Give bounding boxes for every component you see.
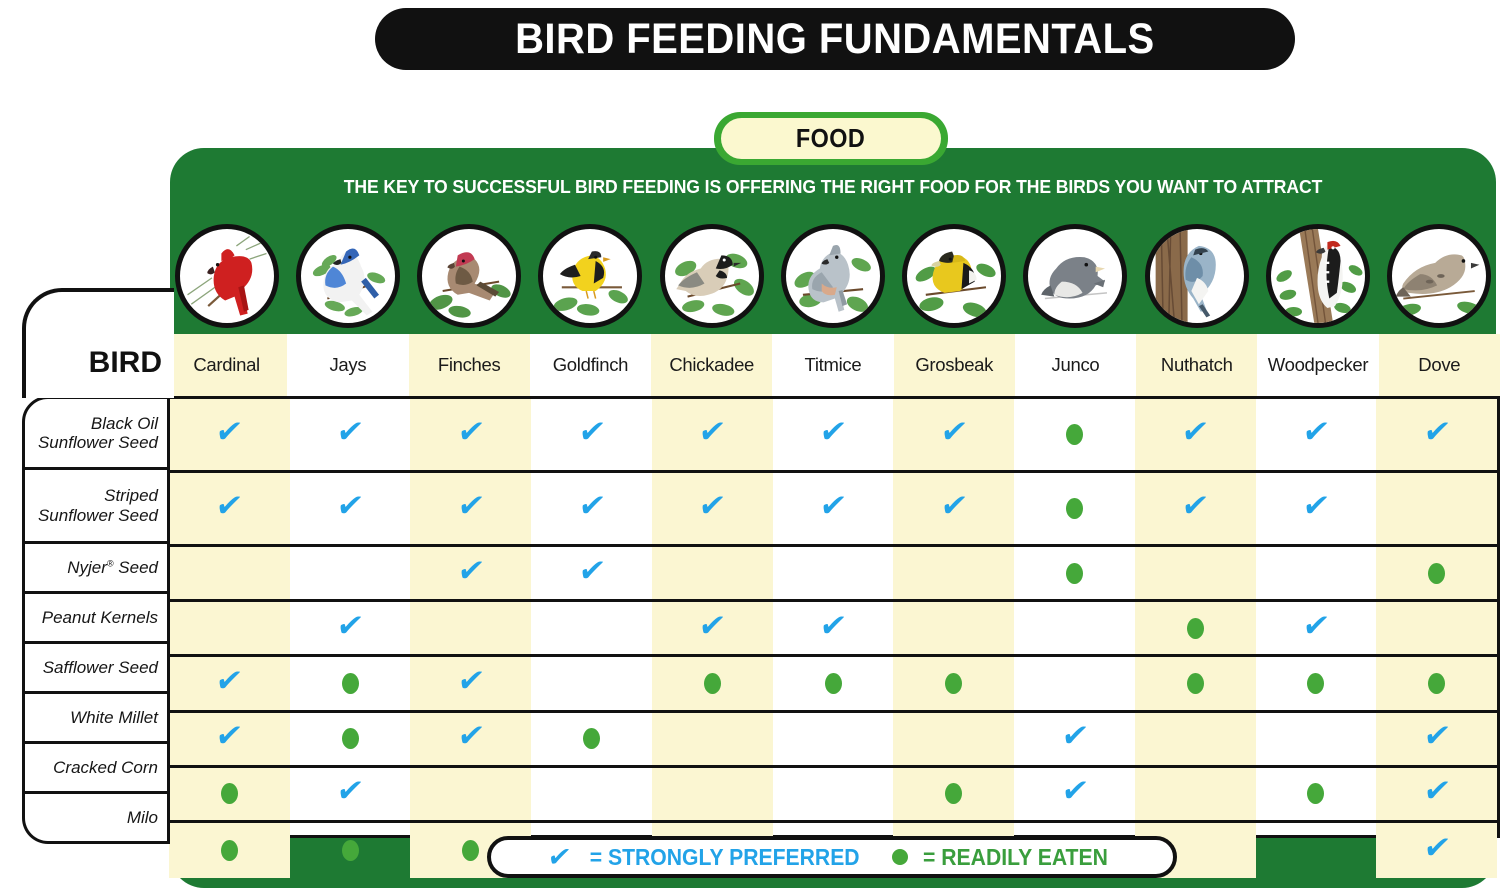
table-cell: ✔ bbox=[410, 713, 531, 765]
food-row-label: Safflower Seed bbox=[22, 644, 170, 694]
table-cell bbox=[1376, 547, 1497, 599]
bird-name-cell: Grosbeak bbox=[894, 334, 1015, 396]
dot-icon bbox=[1307, 783, 1324, 804]
table-cell bbox=[169, 768, 290, 820]
dot-icon bbox=[1307, 673, 1324, 694]
table-cell bbox=[290, 547, 411, 599]
table-row: ✔✔ bbox=[169, 657, 1497, 712]
bird-column-header: Titmice bbox=[772, 222, 893, 396]
table-cell bbox=[893, 768, 1014, 820]
check-icon: ✔ bbox=[1180, 417, 1211, 448]
table-cell bbox=[1256, 547, 1377, 599]
table-row: ✔✔✔✔✔✔✔✔✔ bbox=[169, 473, 1497, 547]
bird-column-header: Dove bbox=[1379, 222, 1500, 396]
table-cell bbox=[652, 768, 773, 820]
table-cell: ✔ bbox=[290, 768, 411, 820]
bird-column-header: Finches bbox=[409, 222, 530, 396]
table-header-row: CardinalJaysFinchesGoldfinchChickadeeTit… bbox=[166, 222, 1500, 396]
table-cell bbox=[169, 823, 290, 878]
table-cell: ✔ bbox=[1376, 823, 1497, 878]
row-label-column: Black OilSunflower SeedStripedSunflower … bbox=[22, 396, 170, 844]
table-cell bbox=[1014, 547, 1135, 599]
bird-name-label: Nuthatch bbox=[1161, 354, 1233, 376]
dot-icon bbox=[1066, 424, 1083, 445]
table-cell: ✔ bbox=[652, 399, 773, 470]
food-row-label: Nyjer® Seed bbox=[22, 544, 170, 594]
table-cell bbox=[773, 768, 894, 820]
table-cell: ✔ bbox=[531, 473, 652, 544]
dot-icon bbox=[1066, 563, 1083, 584]
bird-column-header: Jays bbox=[287, 222, 408, 396]
table-cell bbox=[1256, 823, 1377, 878]
table-cell bbox=[1014, 473, 1135, 544]
check-icon: ✔ bbox=[576, 491, 607, 522]
table-cell bbox=[1376, 657, 1497, 709]
table-body: ✔✔✔✔✔✔✔✔✔✔✔✔✔✔✔✔✔✔✔✔✔✔✔✔✔✔✔✔✔✔✔✔✔✔✔ bbox=[166, 396, 1500, 838]
table-cell bbox=[169, 602, 290, 654]
table-row: ✔✔ bbox=[169, 547, 1497, 602]
table-cell bbox=[1376, 473, 1497, 544]
dot-icon bbox=[583, 728, 600, 749]
table-cell bbox=[290, 823, 411, 878]
food-tab[interactable]: FOOD bbox=[714, 112, 948, 165]
dot-icon bbox=[1428, 563, 1445, 584]
table-row: ✔✔✔✔✔✔✔✔✔✔ bbox=[169, 399, 1497, 473]
table-cell bbox=[1135, 713, 1256, 765]
table-cell: ✔ bbox=[652, 602, 773, 654]
check-icon: ✔ bbox=[1059, 776, 1090, 807]
bird-name-cell: Nuthatch bbox=[1136, 334, 1257, 396]
cardinal-icon bbox=[175, 224, 279, 328]
check-icon: ✔ bbox=[214, 491, 245, 522]
check-icon: ✔ bbox=[455, 417, 486, 448]
check-icon: ✔ bbox=[1059, 721, 1090, 752]
table-cell: ✔ bbox=[290, 473, 411, 544]
table-cell: ✔ bbox=[1256, 602, 1377, 654]
table-cell: ✔ bbox=[290, 602, 411, 654]
table-cell bbox=[893, 657, 1014, 709]
evening-grosbeak-icon bbox=[902, 224, 1006, 328]
check-icon: ✔ bbox=[1421, 833, 1452, 864]
check-icon: ✔ bbox=[1301, 491, 1332, 522]
table-cell bbox=[1376, 602, 1497, 654]
check-icon: ✔ bbox=[1180, 491, 1211, 522]
bird-axis-tab: BIRD bbox=[22, 288, 174, 398]
bird-name-cell: Titmice bbox=[772, 334, 893, 396]
check-icon: ✔ bbox=[938, 417, 969, 448]
table-cell: ✔ bbox=[169, 657, 290, 709]
food-row-label-text: Black OilSunflower Seed bbox=[38, 414, 158, 452]
table-cell bbox=[773, 657, 894, 709]
table-cell: ✔ bbox=[1014, 768, 1135, 820]
check-icon: ✔ bbox=[697, 611, 728, 642]
junco-icon bbox=[1023, 224, 1127, 328]
table-cell: ✔ bbox=[531, 547, 652, 599]
check-icon: ✔ bbox=[1421, 417, 1452, 448]
table-cell bbox=[773, 713, 894, 765]
table-cell bbox=[1135, 657, 1256, 709]
bird-column-header: Chickadee bbox=[651, 222, 772, 396]
check-icon: ✔ bbox=[335, 417, 366, 448]
check-icon: ✔ bbox=[818, 611, 849, 642]
bird-column-header: Nuthatch bbox=[1136, 222, 1257, 396]
bird-column-header: Grosbeak bbox=[894, 222, 1015, 396]
table-cell: ✔ bbox=[1376, 399, 1497, 470]
page-title-banner: BIRD FEEDING FUNDAMENTALS bbox=[375, 8, 1295, 70]
bird-name-label: Chickadee bbox=[669, 354, 754, 376]
table-cell: ✔ bbox=[410, 547, 531, 599]
dot-icon bbox=[221, 840, 238, 861]
table-cell bbox=[1014, 399, 1135, 470]
table-cell bbox=[410, 768, 531, 820]
dot-icon bbox=[1066, 498, 1083, 519]
bird-name-label: Titmice bbox=[805, 354, 862, 376]
food-tab-label: FOOD bbox=[796, 123, 865, 154]
bird-name-label: Grosbeak bbox=[915, 354, 993, 376]
page-title: BIRD FEEDING FUNDAMENTALS bbox=[515, 15, 1155, 64]
food-row-label-text: Milo bbox=[127, 808, 158, 827]
bird-name-cell: Woodpecker bbox=[1257, 334, 1378, 396]
table-cell: ✔ bbox=[773, 602, 894, 654]
table-cell: ✔ bbox=[169, 399, 290, 470]
legend: ✔ = STRONGLY PREFERRED = READILY EATEN bbox=[487, 836, 1177, 878]
dot-icon bbox=[1187, 673, 1204, 694]
dot-icon bbox=[945, 783, 962, 804]
table-cell: ✔ bbox=[1135, 473, 1256, 544]
table-cell: ✔ bbox=[893, 473, 1014, 544]
table-cell bbox=[893, 547, 1014, 599]
bird-name-cell: Goldfinch bbox=[530, 334, 651, 396]
table-cell bbox=[1256, 657, 1377, 709]
goldfinch-icon bbox=[538, 224, 642, 328]
food-row-label-text: Safflower Seed bbox=[43, 658, 158, 677]
bird-name-cell: Cardinal bbox=[166, 334, 287, 396]
table-cell: ✔ bbox=[169, 473, 290, 544]
check-icon: ✔ bbox=[455, 491, 486, 522]
bird-name-cell: Junco bbox=[1015, 334, 1136, 396]
bird-name-label: Dove bbox=[1418, 354, 1460, 376]
check-icon: ✔ bbox=[697, 417, 728, 448]
bird-name-label: Goldfinch bbox=[553, 354, 628, 376]
food-row-label-text: Cracked Corn bbox=[53, 758, 158, 777]
table-cell bbox=[652, 657, 773, 709]
table-cell bbox=[531, 713, 652, 765]
bird-name-cell: Dove bbox=[1379, 334, 1500, 396]
check-icon: ✔ bbox=[697, 491, 728, 522]
food-tab-inner: FOOD bbox=[721, 118, 941, 159]
table-cell bbox=[290, 657, 411, 709]
mourning-dove-icon bbox=[1387, 224, 1491, 328]
subtitle-text: THE KEY TO SUCCESSFUL BIRD FEEDING IS OF… bbox=[209, 176, 1457, 198]
bird-name-label: Woodpecker bbox=[1268, 354, 1369, 376]
table-cell bbox=[290, 713, 411, 765]
table-cell: ✔ bbox=[773, 473, 894, 544]
table-cell: ✔ bbox=[1256, 399, 1377, 470]
food-row-label: Black OilSunflower Seed bbox=[22, 396, 170, 470]
food-row-label-text: White Millet bbox=[70, 708, 158, 727]
dot-icon bbox=[342, 673, 359, 694]
table-cell: ✔ bbox=[1376, 713, 1497, 765]
blue-jay-icon bbox=[296, 224, 400, 328]
table-cell: ✔ bbox=[1256, 473, 1377, 544]
check-icon: ✔ bbox=[1301, 611, 1332, 642]
dot-icon bbox=[945, 673, 962, 694]
chickadee-icon bbox=[660, 224, 764, 328]
table-cell bbox=[1256, 713, 1377, 765]
food-row-label: Milo bbox=[22, 794, 170, 844]
bird-column-header: Cardinal bbox=[166, 222, 287, 396]
bird-name-label: Jays bbox=[329, 354, 366, 376]
table-cell bbox=[893, 602, 1014, 654]
bird-name-cell: Chickadee bbox=[651, 334, 772, 396]
check-icon: ✔ bbox=[214, 721, 245, 752]
check-icon: ✔ bbox=[1301, 417, 1332, 448]
table-cell bbox=[531, 602, 652, 654]
bird-name-cell: Finches bbox=[409, 334, 530, 396]
legend-check-label: = STRONGLY PREFERRED bbox=[589, 844, 859, 871]
dot-icon bbox=[1428, 673, 1445, 694]
check-icon: ✔ bbox=[335, 776, 366, 807]
table-cell bbox=[652, 547, 773, 599]
table-cell: ✔ bbox=[410, 399, 531, 470]
table-row: ✔✔✔✔ bbox=[169, 602, 1497, 657]
dot-icon bbox=[462, 840, 479, 861]
legend-check-icon: ✔ bbox=[546, 844, 573, 871]
bird-name-cell: Jays bbox=[287, 334, 408, 396]
house-finch-icon bbox=[417, 224, 521, 328]
check-icon: ✔ bbox=[455, 556, 486, 587]
check-icon: ✔ bbox=[335, 491, 366, 522]
food-row-label: Cracked Corn bbox=[22, 744, 170, 794]
check-icon: ✔ bbox=[818, 491, 849, 522]
bird-column-header: Woodpecker bbox=[1257, 222, 1378, 396]
titmouse-icon bbox=[781, 224, 885, 328]
bird-name-label: Junco bbox=[1052, 354, 1100, 376]
woodpecker-icon bbox=[1266, 224, 1370, 328]
bird-column-header: Goldfinch bbox=[530, 222, 651, 396]
check-icon: ✔ bbox=[335, 611, 366, 642]
table-cell bbox=[410, 602, 531, 654]
table-cell bbox=[1135, 547, 1256, 599]
table-cell bbox=[169, 547, 290, 599]
dot-icon bbox=[1187, 618, 1204, 639]
check-icon: ✔ bbox=[455, 721, 486, 752]
table-cell bbox=[1014, 602, 1135, 654]
table-cell: ✔ bbox=[410, 473, 531, 544]
dot-icon bbox=[825, 673, 842, 694]
table-cell: ✔ bbox=[1014, 713, 1135, 765]
dot-icon bbox=[704, 673, 721, 694]
table-cell bbox=[1014, 657, 1135, 709]
table-row: ✔✔✔ bbox=[169, 768, 1497, 823]
check-icon: ✔ bbox=[1421, 776, 1452, 807]
food-row-label: Peanut Kernels bbox=[22, 594, 170, 644]
check-icon: ✔ bbox=[214, 666, 245, 697]
check-icon: ✔ bbox=[576, 556, 607, 587]
legend-dot-label: = READILY EATEN bbox=[923, 844, 1108, 871]
table-cell: ✔ bbox=[893, 399, 1014, 470]
table-cell bbox=[531, 657, 652, 709]
food-row-label: StripedSunflower Seed bbox=[22, 470, 170, 544]
dot-icon bbox=[342, 840, 359, 861]
check-icon: ✔ bbox=[938, 491, 969, 522]
table-cell: ✔ bbox=[652, 473, 773, 544]
table-cell: ✔ bbox=[773, 399, 894, 470]
table-cell: ✔ bbox=[1135, 399, 1256, 470]
check-icon: ✔ bbox=[455, 666, 486, 697]
table-cell: ✔ bbox=[290, 399, 411, 470]
nuthatch-icon bbox=[1145, 224, 1249, 328]
table-cell bbox=[893, 713, 1014, 765]
bird-column-header: Junco bbox=[1015, 222, 1136, 396]
table-cell bbox=[1256, 768, 1377, 820]
table-cell bbox=[773, 547, 894, 599]
table-cell bbox=[1135, 602, 1256, 654]
check-icon: ✔ bbox=[1421, 721, 1452, 752]
table-cell bbox=[652, 713, 773, 765]
bird-axis-label: BIRD bbox=[89, 346, 162, 380]
food-row-label-text: Peanut Kernels bbox=[42, 608, 158, 627]
table-cell bbox=[1135, 768, 1256, 820]
check-icon: ✔ bbox=[576, 417, 607, 448]
dot-icon bbox=[342, 728, 359, 749]
bird-name-label: Cardinal bbox=[193, 354, 260, 376]
table-cell: ✔ bbox=[1376, 768, 1497, 820]
table-row: ✔✔✔✔ bbox=[169, 713, 1497, 768]
dot-icon bbox=[221, 783, 238, 804]
table-cell: ✔ bbox=[169, 713, 290, 765]
table-cell: ✔ bbox=[531, 399, 652, 470]
check-icon: ✔ bbox=[214, 417, 245, 448]
food-row-label-text: Nyjer® Seed bbox=[67, 558, 158, 577]
legend-dot-icon bbox=[892, 849, 908, 865]
food-row-label: White Millet bbox=[22, 694, 170, 744]
check-icon: ✔ bbox=[818, 417, 849, 448]
comparison-table: CardinalJaysFinchesGoldfinchChickadeeTit… bbox=[166, 222, 1500, 838]
table-cell: ✔ bbox=[410, 657, 531, 709]
table-cell bbox=[531, 768, 652, 820]
bird-name-label: Finches bbox=[438, 354, 501, 376]
food-row-label-text: StripedSunflower Seed bbox=[38, 486, 158, 524]
